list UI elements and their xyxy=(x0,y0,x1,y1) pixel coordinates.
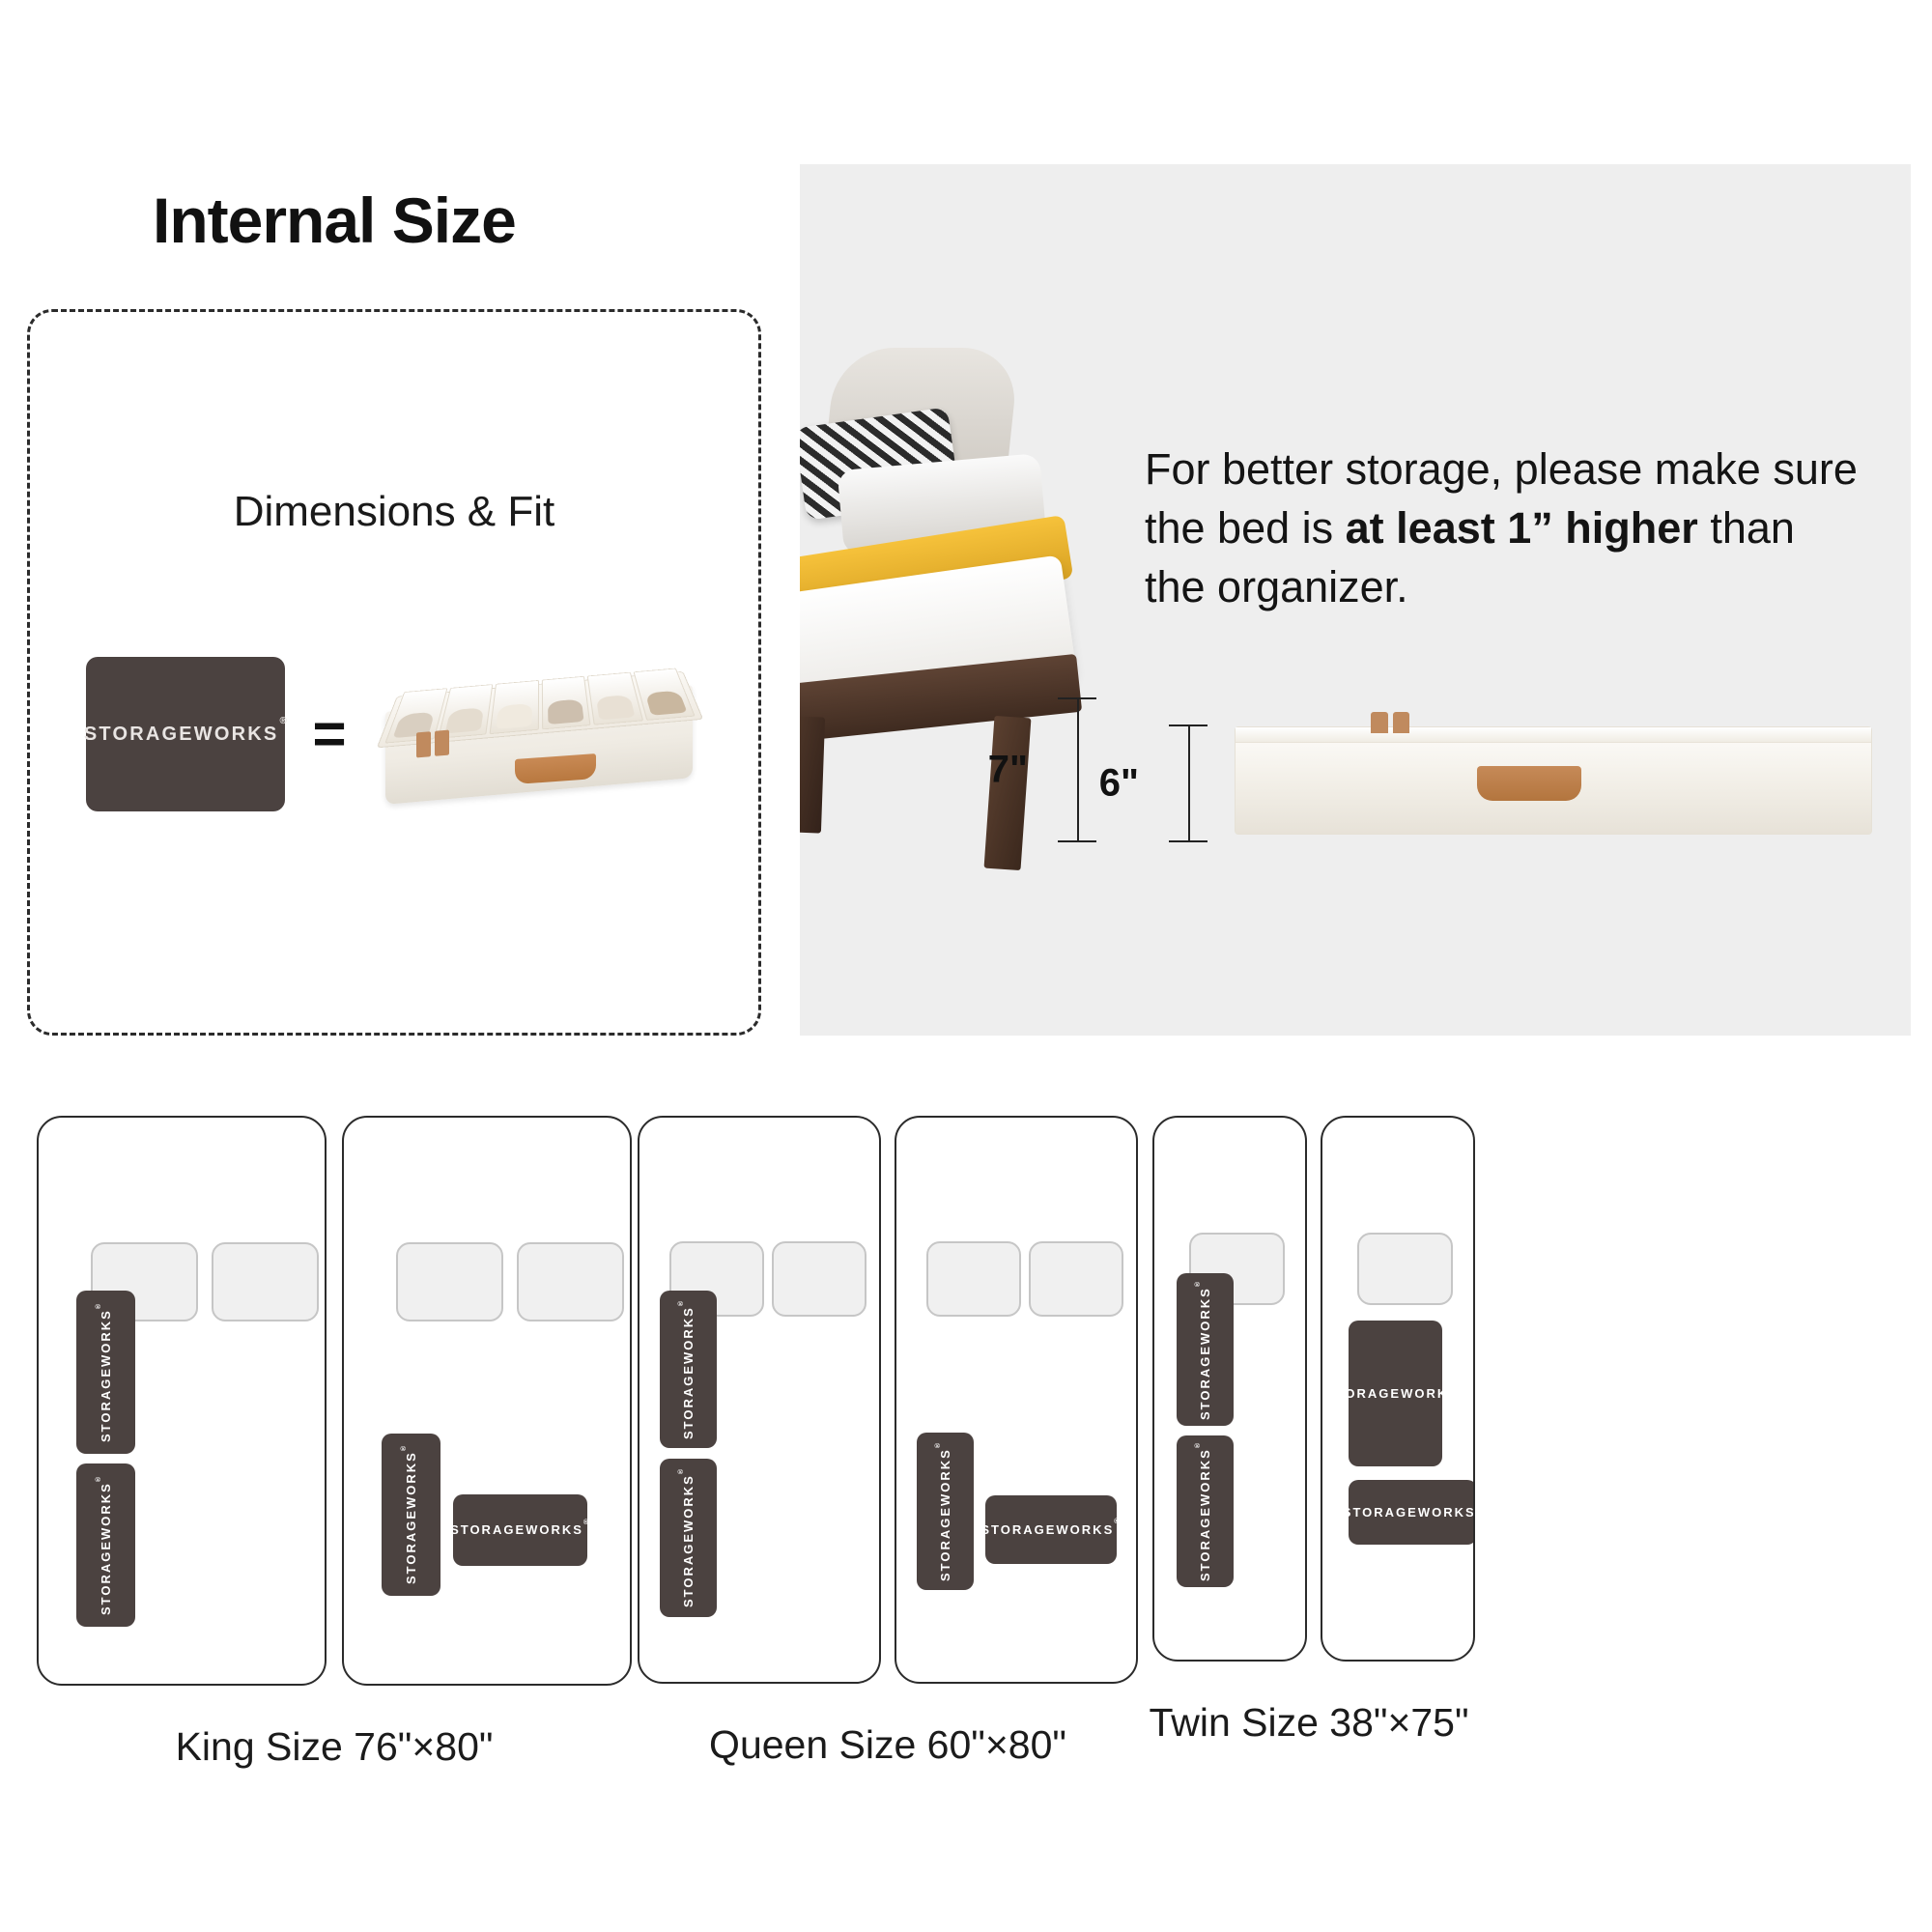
dimension-cap-bottom xyxy=(1169,840,1207,842)
dimensions-fit-label: Dimensions & Fit xyxy=(27,488,761,536)
organizer-placement-v: STORAGEWORKS® xyxy=(76,1463,135,1627)
organizer-placement-v: STORAGEWORKS® xyxy=(382,1434,440,1597)
pillow-outline xyxy=(926,1241,1020,1317)
dimension-cap-bottom xyxy=(1058,840,1096,842)
pillow-outline xyxy=(1357,1233,1454,1305)
brand-equals-product-row: STORAGEWORKS® = xyxy=(27,647,761,821)
organizer-brand-label: STORAGEWORKS® xyxy=(450,1522,590,1537)
organizer-brand-label: STORAGEWORKS® xyxy=(681,1467,696,1607)
bed-size-caption-king: King Size 76"×80" xyxy=(37,1724,632,1770)
dimension-line xyxy=(1188,724,1190,842)
organizer-brand-label: STORAGEWORKS® xyxy=(1198,1441,1212,1581)
organizer-placement-v: STORAGEWORKS® xyxy=(1177,1435,1234,1587)
organizer-top-lip xyxy=(1236,727,1871,743)
organizer-brand-label: STORAGEWORKS® xyxy=(980,1522,1121,1537)
page-title: Internal Size xyxy=(153,184,516,257)
organizer-brand-label: STORAGEWORKS® xyxy=(681,1299,696,1439)
organizer-placement-v: STORAGEWORKS® xyxy=(660,1459,717,1617)
organizer-side-view xyxy=(1235,726,1872,835)
organizer-brand-label: STORAGEWORKS® xyxy=(1325,1386,1465,1401)
pillow-outline xyxy=(212,1242,319,1321)
organizer-placement-h: STORAGEWORKS® xyxy=(1349,1321,1443,1466)
bed-leg-front xyxy=(984,716,1032,870)
organizer-velcro-tabs xyxy=(1371,712,1409,733)
dimension-line xyxy=(1077,697,1079,842)
bed-size-group-king: STORAGEWORKS®STORAGEWORKS®STORAGEWORKS®S… xyxy=(37,1116,632,1686)
pillow-outline xyxy=(396,1242,503,1321)
organizer-brand-label: STORAGEWORKS® xyxy=(99,1302,113,1442)
organizer-height-label: 6" xyxy=(1099,762,1145,806)
mattress-outline-queen-2: STORAGEWORKS®STORAGEWORKS® xyxy=(895,1116,1138,1684)
organizer-placement-h: STORAGEWORKS® xyxy=(1349,1480,1475,1545)
advice-bold-1: at least xyxy=(1346,503,1495,553)
pillow-outline xyxy=(1029,1241,1122,1317)
bed-height-label: 7" xyxy=(988,749,1034,792)
bed-size-group-twin: STORAGEWORKS®STORAGEWORKS®STORAGEWORKS®S… xyxy=(1152,1116,1475,1662)
brand-badge: STORAGEWORKS® xyxy=(86,657,285,811)
organizer-brand-label: STORAGEWORKS® xyxy=(1343,1505,1475,1520)
mattress-outline-king-2: STORAGEWORKS®STORAGEWORKS® xyxy=(342,1116,632,1686)
mattress-outline-queen-1: STORAGEWORKS®STORAGEWORKS® xyxy=(638,1116,881,1684)
organizer-placement-v: STORAGEWORKS® xyxy=(1177,1273,1234,1425)
mattress-outline-king-1: STORAGEWORKS®STORAGEWORKS® xyxy=(37,1116,327,1686)
equals-icon: = xyxy=(306,711,352,757)
organizer-brand-label: STORAGEWORKS® xyxy=(99,1475,113,1615)
clearance-advice-text: For better storage, please make sure the… xyxy=(1145,440,1860,617)
advice-text-2 xyxy=(1495,503,1508,553)
pillow-outline xyxy=(517,1242,624,1321)
organizer-placement-v: STORAGEWORKS® xyxy=(660,1291,717,1449)
product-photo xyxy=(374,662,702,807)
bed-leg-back xyxy=(800,716,825,833)
organizer-pull-handle xyxy=(1477,766,1581,801)
organizer-velcro-tabs xyxy=(416,730,449,758)
pillow-outline xyxy=(772,1241,866,1317)
organizer-brand-label: STORAGEWORKS® xyxy=(1198,1280,1212,1420)
organizer-brand-label: STORAGEWORKS® xyxy=(938,1441,952,1581)
organizer-height-dimension: 6" xyxy=(1145,724,1232,842)
mattress-outline-twin-1: STORAGEWORKS®STORAGEWORKS® xyxy=(1152,1116,1307,1662)
bed-size-caption-queen: Queen Size 60"×80" xyxy=(638,1722,1138,1768)
organizer-placement-h: STORAGEWORKS® xyxy=(453,1494,587,1566)
organizer-placement-v: STORAGEWORKS® xyxy=(76,1291,135,1454)
brand-badge-label: STORAGEWORKS® xyxy=(84,724,288,746)
infographic-page: Internal Size Dimensions & Fit STORAGEWO… xyxy=(0,0,1932,1932)
bed-size-diagrams: STORAGEWORKS®STORAGEWORKS®STORAGEWORKS®S… xyxy=(0,1116,1932,1792)
mattress-outline-twin-2: STORAGEWORKS®STORAGEWORKS® xyxy=(1321,1116,1475,1662)
bed-size-caption-twin: Twin Size 38"×75" xyxy=(1145,1700,1473,1746)
organizer-placement-v: STORAGEWORKS® xyxy=(917,1433,974,1591)
bed-size-group-queen: STORAGEWORKS®STORAGEWORKS®STORAGEWORKS®S… xyxy=(638,1116,1138,1684)
organizer-brand-label: STORAGEWORKS® xyxy=(404,1444,418,1584)
advice-bold-2: 1” higher xyxy=(1507,503,1698,553)
organizer-placement-h: STORAGEWORKS® xyxy=(985,1495,1117,1564)
